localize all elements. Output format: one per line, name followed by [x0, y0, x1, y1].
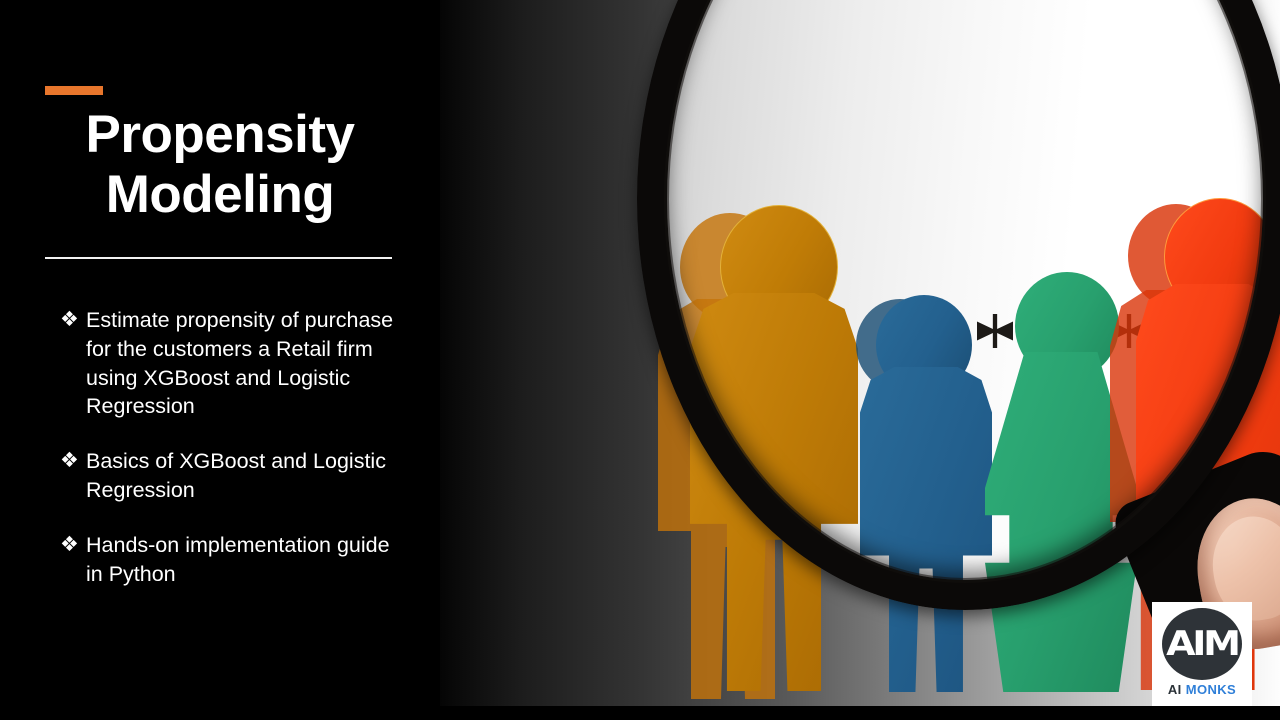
page-title-line-1: Propensity — [30, 105, 410, 165]
list-item-label: Hands-on implementation guide in Python — [86, 531, 405, 589]
diamond-bullet-icon: ❖ — [60, 306, 86, 421]
logo-mark-text: AIM — [1166, 624, 1237, 664]
text-panel: Propensity Modeling ❖ Estimate propensit… — [0, 0, 440, 720]
accent-bar — [45, 86, 103, 95]
bullet-list: ❖ Estimate propensity of purchase for th… — [60, 306, 405, 614]
list-item-label: Basics of XGBoost and Logistic Regressio… — [86, 447, 405, 505]
logo-wordmark: AI MONKS — [1152, 682, 1252, 697]
hero-image — [440, 0, 1280, 706]
logo: AIM AI MONKS — [1152, 602, 1252, 706]
list-item: ❖ Estimate propensity of purchase for th… — [60, 306, 405, 421]
logo-mark-icon: AIM — [1162, 608, 1242, 680]
page-title: Propensity Modeling — [30, 105, 410, 226]
title-divider — [45, 257, 392, 259]
list-item-label: Estimate propensity of purchase for the … — [86, 306, 405, 421]
logo-word-ai: AI — [1168, 682, 1182, 697]
logo-word-monks: MONKS — [1186, 682, 1236, 697]
slide: AIM AI MONKS Propensity Modeling ❖ Estim… — [0, 0, 1280, 720]
list-item: ❖ Basics of XGBoost and Logistic Regress… — [60, 447, 405, 505]
diamond-bullet-icon: ❖ — [60, 447, 86, 505]
list-item: ❖ Hands-on implementation guide in Pytho… — [60, 531, 405, 589]
page-title-line-2: Modeling — [30, 165, 410, 225]
diamond-bullet-icon: ❖ — [60, 531, 86, 589]
